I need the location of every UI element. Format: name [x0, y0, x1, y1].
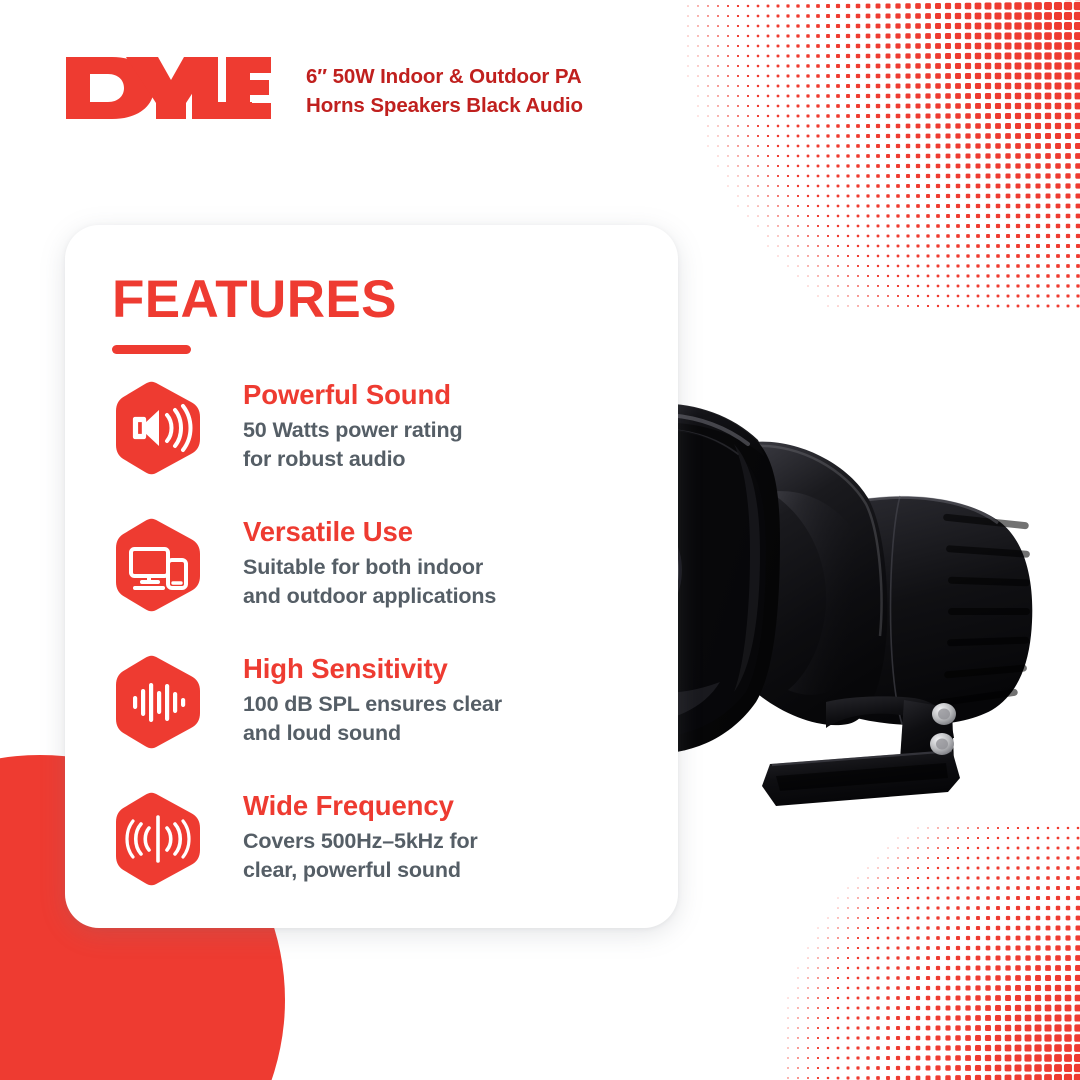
feature-item-powerful-sound: Powerful Sound 50 Watts power rating for…: [111, 377, 641, 514]
feature-item-high-sensitivity: High Sensitivity 100 dB SPL ensures clea…: [111, 651, 641, 788]
feature-description-line-1: 100 dB SPL ensures clear: [243, 690, 641, 719]
feature-title: Powerful Sound: [243, 379, 641, 411]
feature-title: Versatile Use: [243, 516, 641, 548]
speaker-volume-icon: [111, 381, 205, 475]
feature-description-line-2: for robust audio: [243, 445, 641, 474]
product-title: 6″ 50W Indoor & Outdoor PA Horns Speaker…: [306, 62, 636, 120]
halftone-pattern-bottom-right: [786, 826, 1080, 1080]
feature-badge: [111, 518, 205, 612]
product-title-line-2: Horns Speakers Black Audio: [306, 91, 636, 120]
sound-waves-icon: [111, 792, 205, 886]
features-heading: FEATURES: [112, 273, 397, 326]
feature-title: Wide Frequency: [243, 790, 641, 822]
feature-item-wide-frequency: Wide Frequency Covers 500Hz–5kHz for cle…: [111, 788, 641, 925]
feature-description-line-1: 50 Watts power rating: [243, 416, 641, 445]
feature-description: 100 dB SPL ensures clear and loud sound: [243, 690, 641, 747]
feature-item-versatile-use: Versatile Use Suitable for both indoor a…: [111, 514, 641, 651]
feature-text: Powerful Sound 50 Watts power rating for…: [205, 377, 641, 474]
feature-badge: [111, 655, 205, 749]
pyle-logo: [66, 57, 271, 119]
features-accent-rule: [112, 345, 191, 354]
feature-description-line-1: Covers 500Hz–5kHz for: [243, 827, 641, 856]
feature-description-line-2: and loud sound: [243, 719, 641, 748]
feature-description: Suitable for both indoor and outdoor app…: [243, 553, 641, 610]
feature-description-line-1: Suitable for both indoor: [243, 553, 641, 582]
product-title-line-1: 6″ 50W Indoor & Outdoor PA: [306, 62, 636, 91]
feature-text: High Sensitivity 100 dB SPL ensures clea…: [205, 651, 641, 748]
feature-text: Versatile Use Suitable for both indoor a…: [205, 514, 641, 611]
feature-badge: [111, 792, 205, 886]
feature-description-line-2: and outdoor applications: [243, 582, 641, 611]
feature-description: Covers 500Hz–5kHz for clear, powerful so…: [243, 827, 641, 884]
infographic-canvas: 6″ 50W Indoor & Outdoor PA Horns Speaker…: [0, 0, 1080, 1080]
header: 6″ 50W Indoor & Outdoor PA Horns Speaker…: [0, 0, 1080, 170]
audio-waveform-icon: [111, 655, 205, 749]
features-list: Powerful Sound 50 Watts power rating for…: [111, 377, 641, 925]
feature-title: High Sensitivity: [243, 653, 641, 685]
feature-description-line-2: clear, powerful sound: [243, 856, 641, 885]
features-card: FEATURES: [65, 225, 678, 928]
feature-description: 50 Watts power rating for robust audio: [243, 416, 641, 473]
monitor-phone-icon: [111, 518, 205, 612]
feature-badge: [111, 381, 205, 475]
feature-text: Wide Frequency Covers 500Hz–5kHz for cle…: [205, 788, 641, 885]
